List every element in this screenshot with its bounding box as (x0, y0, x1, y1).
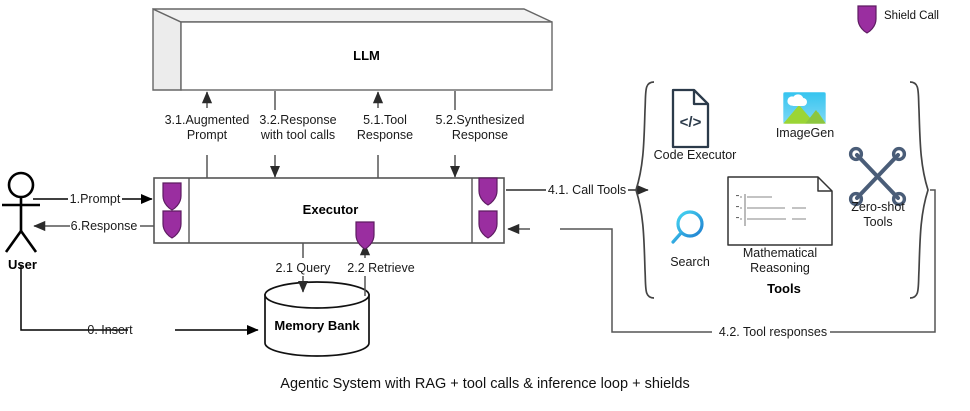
edge-label-prompt: 1.Prompt (66, 192, 124, 207)
diagram-caption: Agentic System with RAG + tool calls & i… (0, 376, 970, 392)
tools-group-label: Tools (736, 281, 832, 296)
shield-icon-legend (858, 6, 876, 33)
edge-label-query: 2.1 Query (266, 261, 340, 276)
edge-label-response: 6.Response (66, 219, 142, 234)
edge-insert (21, 265, 258, 330)
tool-label-search: Search (660, 255, 720, 270)
svg-text:</>: </> (680, 114, 702, 131)
image-icon (783, 92, 826, 124)
edge-label-insert: 0. Insert (80, 323, 140, 338)
tool-label-zero-shot-tools: Zero-shot Tools (840, 200, 916, 230)
code-document-icon: </> (673, 90, 708, 147)
tool-label-code-executor: Code Executor (650, 148, 740, 163)
tool-label-imagegen: ImageGen (766, 126, 844, 141)
crossed-wrenches-icon (851, 149, 905, 205)
edge-label-retrieve: 2.2 Retrieve (336, 261, 426, 276)
formula-document-icon (728, 177, 832, 245)
user-stick-figure (2, 173, 40, 252)
tool-label-math-reasoning: Mathematical Reasoning (728, 246, 832, 276)
tools-brace-right (910, 82, 928, 298)
user-label: User (0, 257, 45, 272)
edge-label-synthesized-response: 5.2.Synthesized Response (413, 113, 547, 143)
legend-shield-label: Shield Call (884, 10, 939, 22)
diagram-canvas: </> (0, 0, 970, 411)
memory-bank-label: Memory Bank (265, 318, 369, 333)
executor-label: Executor (189, 202, 472, 217)
magnifier-icon (673, 212, 702, 242)
edge-label-call-tools: 4.1. Call Tools (541, 183, 633, 198)
edge-label-tool-responses: 4.2. Tool responses (713, 325, 833, 340)
shield-icon-memory-retrieve (356, 222, 374, 249)
llm-label: LLM (181, 48, 552, 63)
